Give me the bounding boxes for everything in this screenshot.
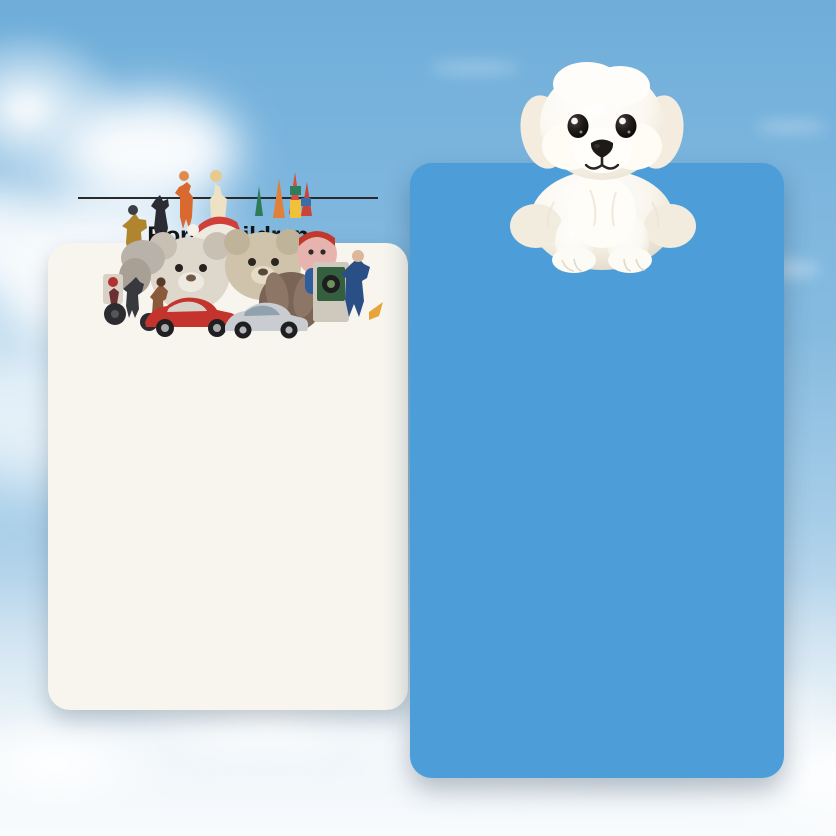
white-puppy-image: [492, 50, 712, 276]
cloud-wisp: [756, 120, 826, 134]
comparison-graphic: Other Toys Bore Children Mass-Produced B…: [0, 0, 836, 836]
toy-pile-image: [95, 142, 385, 342]
